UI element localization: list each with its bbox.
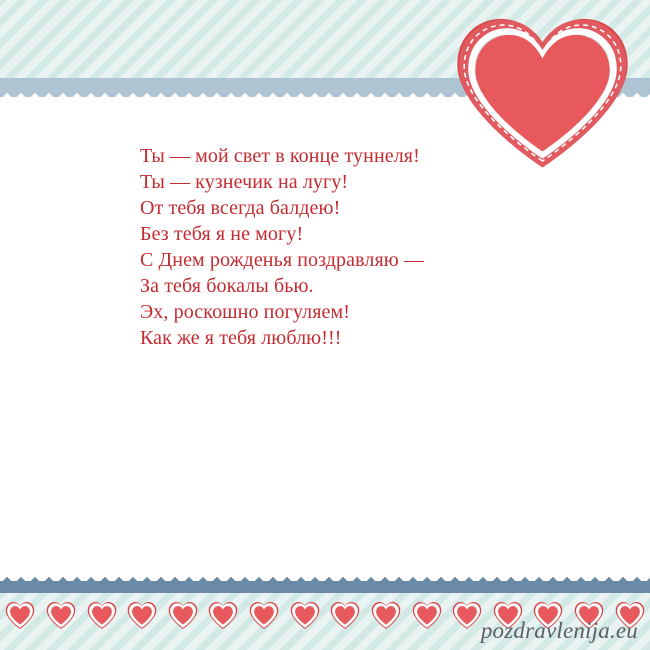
heart-icon (411, 600, 443, 630)
heart-icon (207, 600, 239, 630)
heart-icon (289, 600, 321, 630)
poem-line: Как же я тебя люблю!!! (140, 325, 600, 351)
heart-icon (4, 600, 36, 630)
poem-text-block: Ты — мой свет в конце туннеля! Ты — кузн… (140, 143, 600, 351)
poem-line: Ты — мой свет в конце туннеля! (140, 143, 600, 169)
watermark: pozdravlenija.eu (481, 618, 638, 644)
greeting-card: Ты — мой свет в конце туннеля! Ты — кузн… (0, 0, 650, 650)
heart-icon (167, 600, 199, 630)
heart-icon (86, 600, 118, 630)
heart-icon (329, 600, 361, 630)
heart-icon (451, 600, 483, 630)
heart-icon (248, 600, 280, 630)
poem-line: За тебя бокалы бью. (140, 273, 600, 299)
heart-icon (126, 600, 158, 630)
poem-line: Ты — кузнечик на лугу! (140, 169, 600, 195)
poem-line: Без тебя я не могу! (140, 221, 600, 247)
heart-icon (45, 600, 77, 630)
poem-line: Эх, роскошно погуляем! (140, 299, 600, 325)
heart-icon (370, 600, 402, 630)
footer-blue-band (0, 581, 650, 593)
poem-line: От тебя всегда балдею! (140, 195, 600, 221)
poem-line: С Днем рожденья поздравляю — (140, 247, 600, 273)
